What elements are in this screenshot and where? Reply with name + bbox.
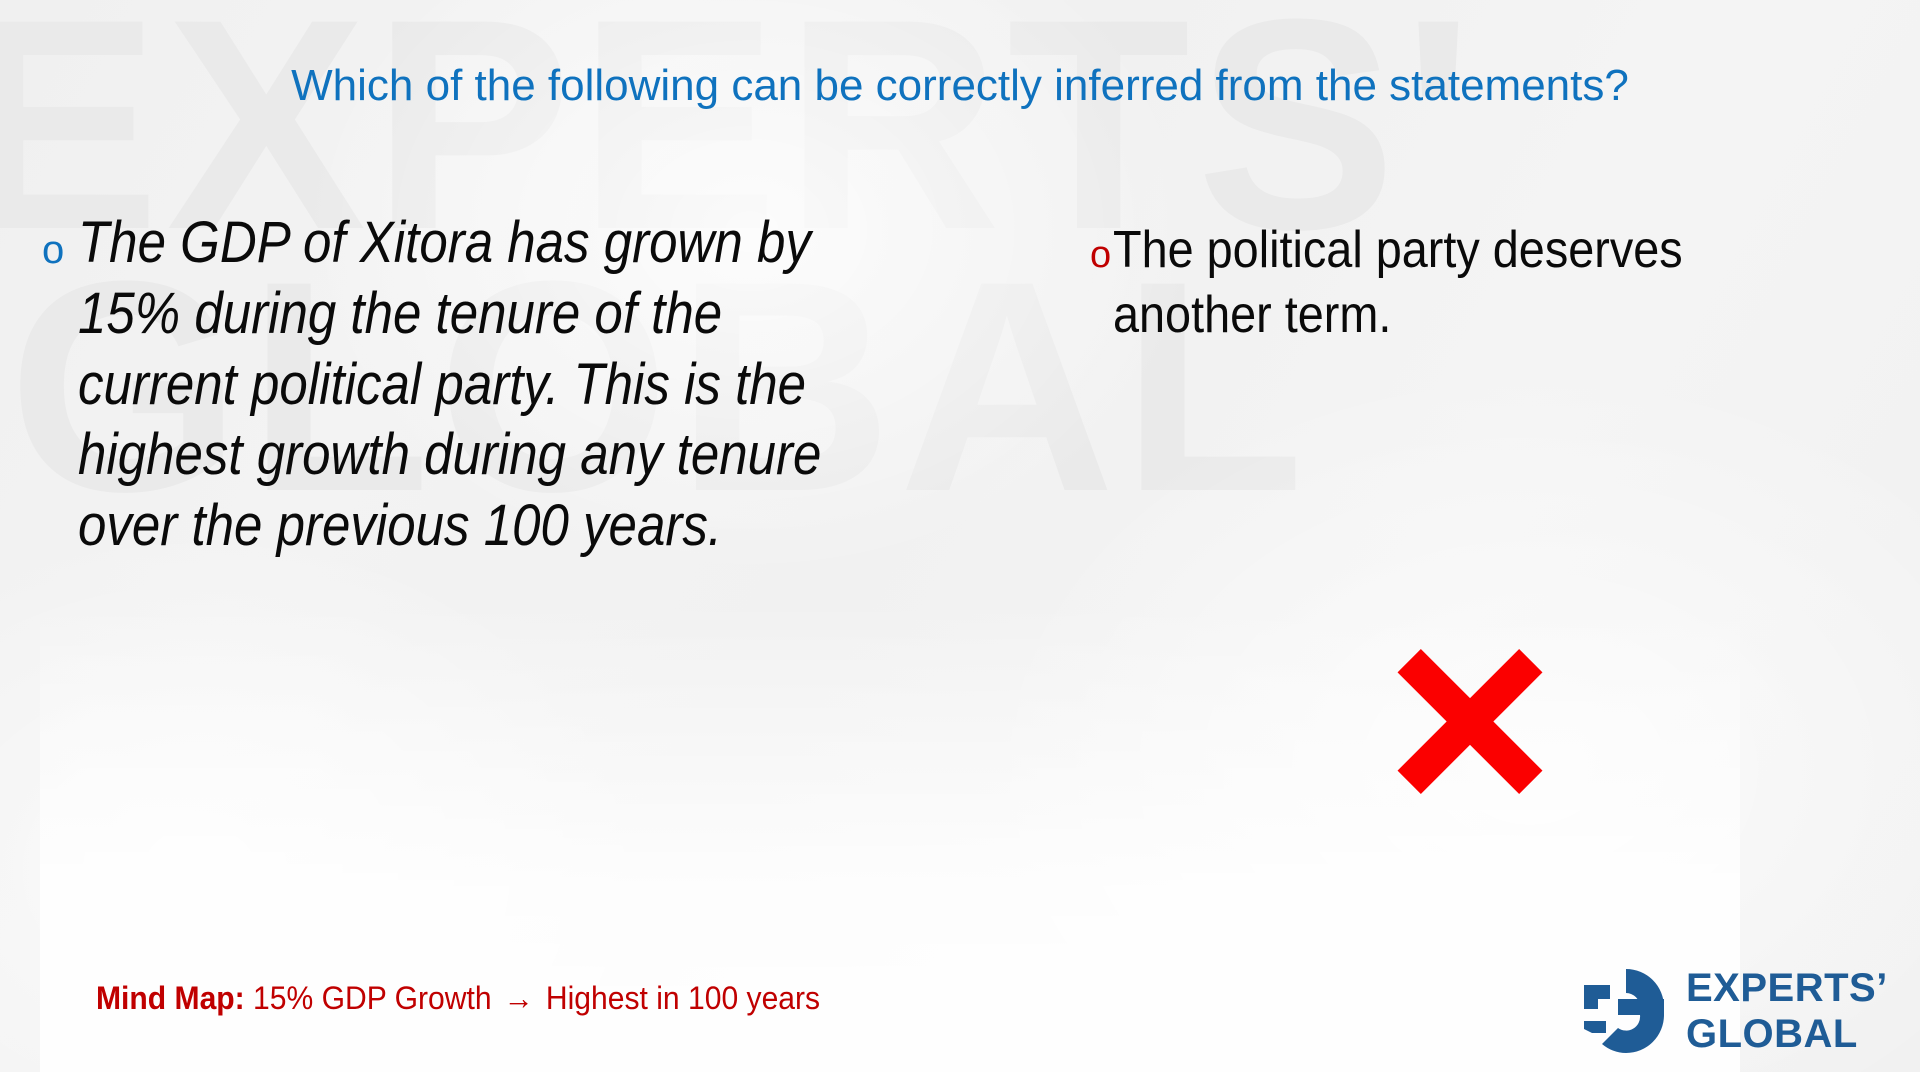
option-right[interactable]: o The political party deserves another t… — [1090, 218, 1830, 348]
brand-logo-word-experts: EXPERTS’ — [1686, 968, 1888, 1008]
bullet-circle-icon-red: o — [1090, 236, 1111, 274]
option-left-text: The GDP of Xitora has grown by 15% durin… — [78, 208, 865, 562]
cross-mark-icon — [1397, 648, 1543, 794]
mind-map-note: Mind Map: 15% GDP Growth → Highest in 10… — [96, 980, 820, 1017]
mind-map-body-before: 15% GDP Growth — [253, 980, 492, 1016]
option-left[interactable]: o The GDP of Xitora has grown by 15% dur… — [42, 208, 972, 562]
mind-map-body-after: Highest in 100 years — [546, 980, 820, 1016]
experts-global-g-mark-icon — [1580, 965, 1672, 1057]
bullet-circle-icon-blue: o — [42, 230, 64, 270]
brand-logo-wordmark: EXPERTS’ GLOBAL — [1686, 968, 1888, 1054]
brand-logo-word-global: GLOBAL — [1686, 1014, 1888, 1054]
slide-title: Which of the following can be correctly … — [0, 62, 1920, 110]
slide-content: Which of the following can be correctly … — [0, 0, 1920, 1072]
presentation-slide: EXPERTS' GLOBAL Which of the following c… — [0, 0, 1920, 1072]
brand-logo: EXPERTS’ GLOBAL — [1580, 960, 1900, 1062]
option-right-text: The political party deserves another ter… — [1113, 218, 1758, 348]
mind-map-label: Mind Map: — [96, 980, 245, 1016]
arrow-right-icon: → — [500, 980, 538, 1016]
